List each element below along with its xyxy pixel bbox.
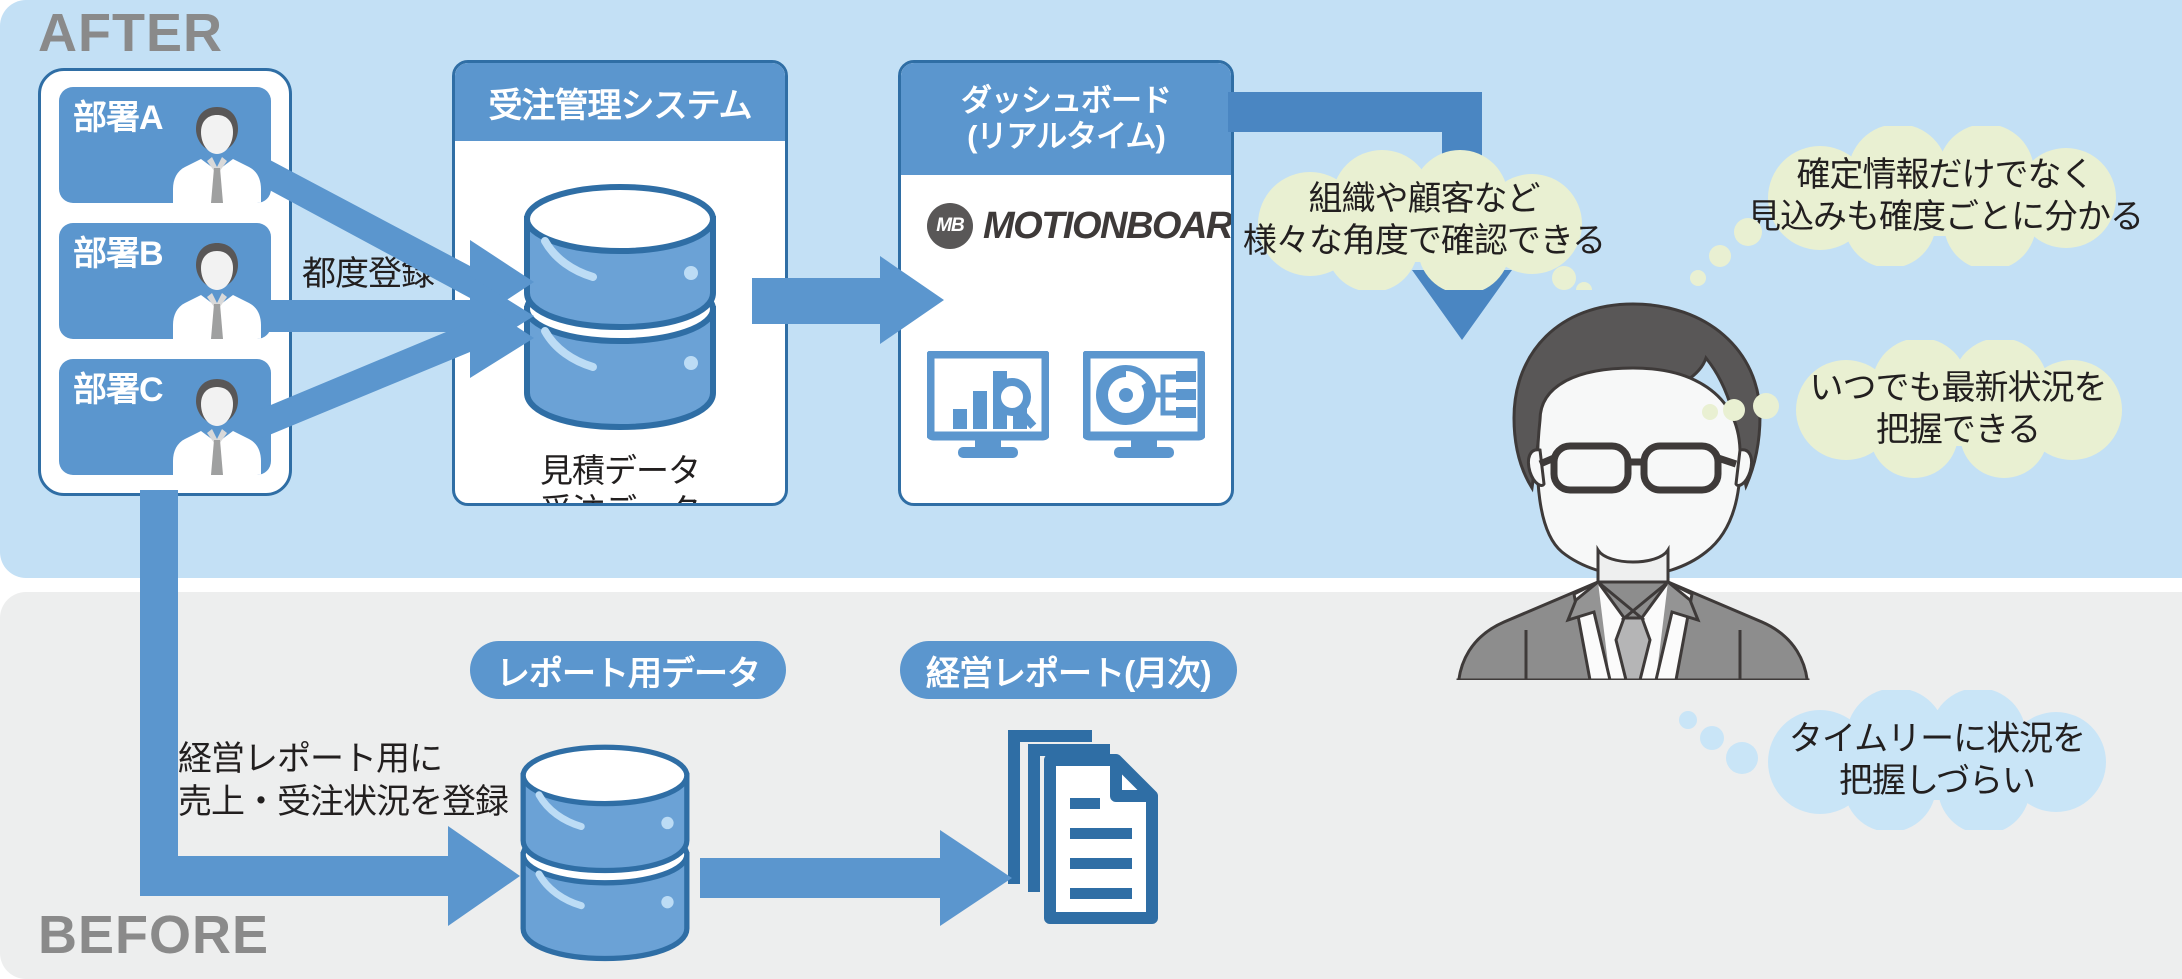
bubble-text: 確定情報だけでなく 見込みも確度ごとに分かる	[1747, 154, 2143, 238]
arrow-reportdb-to-report	[700, 830, 1012, 926]
bubble-forecast-detail: 確定情報だけでなく 見込みも確度ごとに分かる	[1740, 126, 2150, 266]
bubble-text: 組織や顧客など 様々な角度で確認できる	[1243, 178, 1605, 262]
bubble-not-timely: タイムリーに状況を 把握しづらい	[1742, 690, 2132, 830]
bubble-tail-latest	[1700, 378, 1786, 438]
bubble-multi-angle: 組織や顧客など 様々な角度で確認できる	[1232, 150, 1616, 290]
arrow-after-to-before	[140, 490, 520, 926]
bubble-text: タイムリーに状況を 把握しづらい	[1789, 718, 2085, 802]
bubble-tail-not-timely	[1666, 700, 1762, 790]
businessman-with-glasses-icon	[1448, 300, 1818, 680]
arrow-data-fetch	[752, 256, 944, 344]
bubble-tail-forecast	[1684, 212, 1774, 302]
diagram-canvas: AFTER BEFORE 部署A 部署	[0, 0, 2182, 979]
bubble-text: いつでも最新状況を 把握できる	[1810, 367, 2107, 451]
bubble-always-latest: いつでも最新状況を 把握できる	[1772, 340, 2144, 478]
